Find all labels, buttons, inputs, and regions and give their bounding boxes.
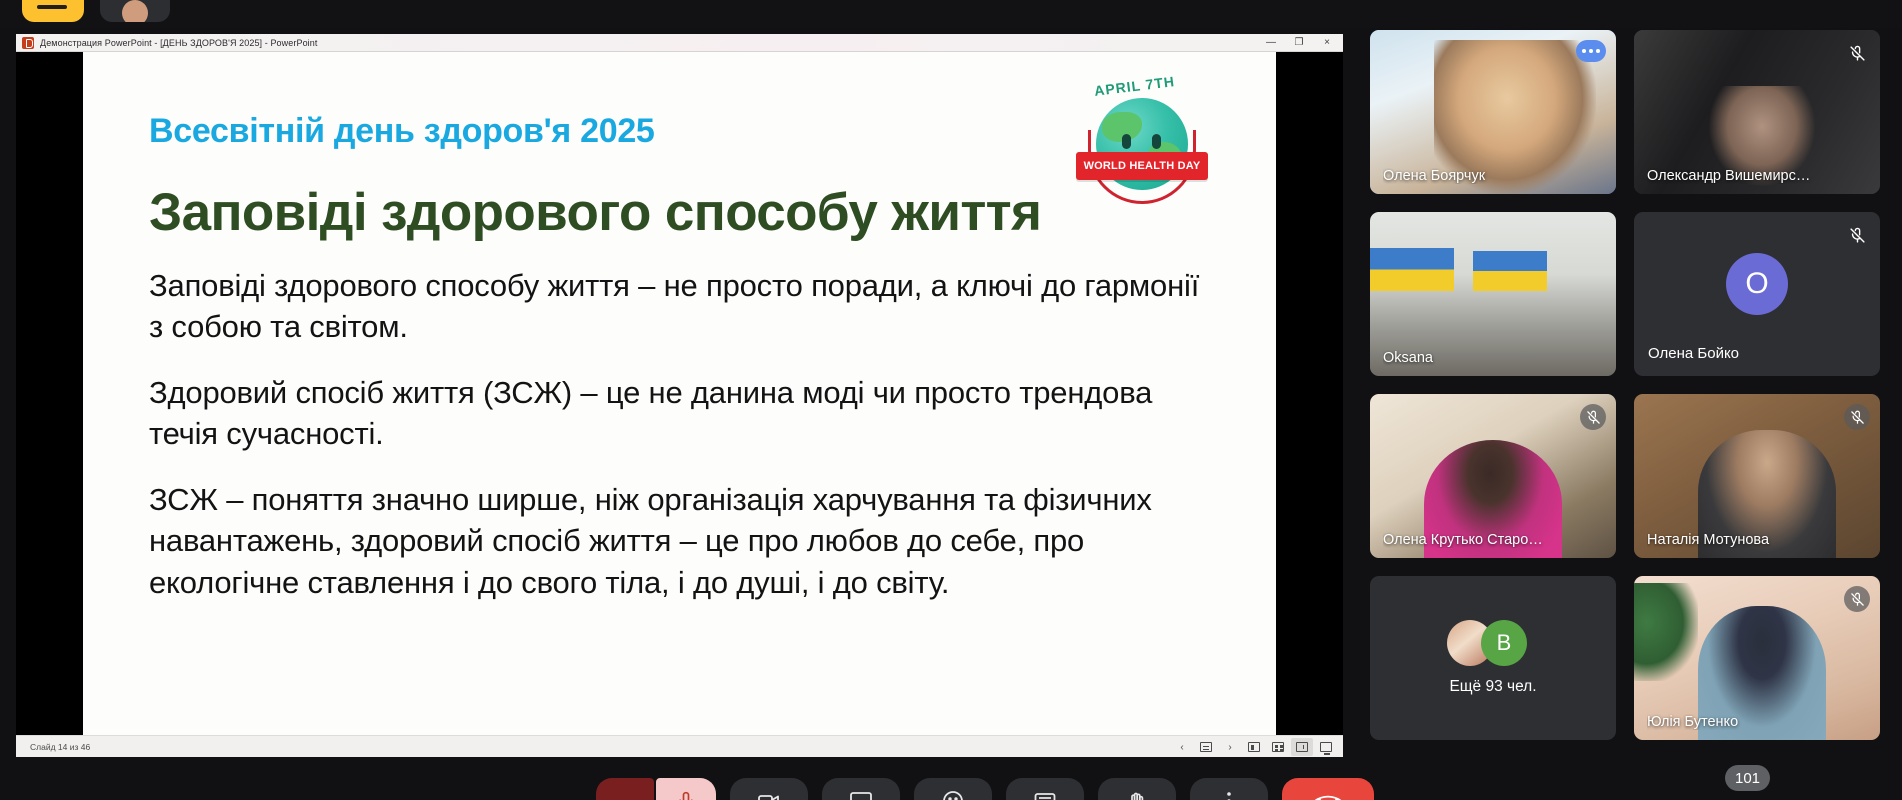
top-chrome-strip [0, 0, 1902, 28]
avatar: В [1481, 620, 1527, 666]
camera-button[interactable] [730, 778, 808, 800]
world-health-day-logo: APRIL 7TH WORLD HEALTH DAY [1064, 76, 1224, 211]
slide-counter: Слайд 14 из 46 [16, 742, 90, 752]
powerpoint-title: Демонстрация PowerPoint - [ДЕНЬ ЗДОРОВ'Я… [40, 38, 317, 48]
microphone-button[interactable] [596, 778, 716, 800]
whd-ribbon-text: WORLD HEALTH DAY [1076, 152, 1208, 180]
notes-icon [1200, 742, 1212, 752]
participant-tile[interactable]: Юлія Бутенко [1634, 576, 1880, 740]
powerpoint-icon [22, 37, 34, 49]
globe-eye-right-icon [1152, 134, 1161, 149]
participant-name: Наталія Мотунова [1647, 532, 1846, 548]
mic-muted-icon [1844, 404, 1870, 430]
slide-paragraph-3: ЗСЖ – поняття значно ширше, ніж організа… [149, 479, 1209, 604]
screen-share-icon [849, 789, 873, 800]
normal-view-icon [1248, 742, 1260, 752]
notes-button[interactable] [1195, 738, 1217, 756]
powerpoint-share-window[interactable]: Демонстрация PowerPoint - [ДЕНЬ ЗДОРОВ'Я… [16, 34, 1343, 757]
next-slide-button[interactable]: › [1219, 738, 1241, 756]
participant-name: Oksana [1383, 350, 1582, 366]
reading-view-icon [1296, 742, 1308, 752]
slide-heading: Заповіді здорового способу життя [149, 185, 1220, 241]
meeting-screen: Демонстрация PowerPoint - [ДЕНЬ ЗДОРОВ'Я… [0, 0, 1902, 800]
slide-surface: Всесвітній день здоров'я 2025 Заповіді з… [83, 52, 1276, 735]
camera-icon [757, 789, 781, 800]
participant-rail: Олена Боярчук Олександр Вишемирс… Oksana [1370, 30, 1890, 758]
restore-icon[interactable]: ❐ [1285, 34, 1313, 52]
mic-icon [676, 791, 696, 800]
app-badge-yellow[interactable] [22, 0, 84, 22]
more-options-button[interactable] [1190, 778, 1268, 800]
end-call-icon [1314, 787, 1342, 800]
slide-sorter-icon [1272, 742, 1284, 752]
chat-icon [1033, 789, 1057, 800]
screen-share-button[interactable] [822, 778, 900, 800]
participant-tile[interactable]: О Олена Бойко [1634, 212, 1880, 376]
more-participants-label: Ещё 93 чел. [1449, 678, 1536, 696]
participant-tile[interactable]: Олена Боярчук [1370, 30, 1616, 194]
mic-muted-icon [1844, 586, 1870, 612]
slide-show-icon [1320, 742, 1332, 752]
hand-icon [1125, 789, 1149, 800]
participant-name: Олександр Вишемирс… [1647, 168, 1846, 184]
april-date-text: APRIL 7TH [1093, 73, 1175, 99]
microphone-options[interactable] [656, 778, 716, 800]
chat-button[interactable] [1006, 778, 1084, 800]
mic-muted-icon [1844, 40, 1870, 66]
participant-row: В Ещё 93 чел. Юлія Бутенко [1370, 576, 1890, 740]
window-controls: — ❐ × [1257, 34, 1341, 52]
participant-name: Олена Боярчук [1383, 168, 1582, 184]
raise-hand-button[interactable] [1098, 778, 1176, 800]
close-icon[interactable]: × [1313, 34, 1341, 52]
powerpoint-canvas: Всесвітній день здоров'я 2025 Заповіді з… [16, 52, 1343, 735]
powerpoint-titlebar: Демонстрация PowerPoint - [ДЕНЬ ЗДОРОВ'Я… [16, 34, 1343, 52]
avatar: О [1726, 253, 1788, 315]
mic-muted-icon [1580, 404, 1606, 430]
participant-tile[interactable]: Олександр Вишемирс… [1634, 30, 1880, 194]
participant-row: Oksana О Олена Бойко [1370, 212, 1890, 376]
slide-paragraph-2: Здоровий спосіб життя (ЗСЖ) – це не дани… [149, 372, 1209, 455]
normal-view-button[interactable] [1243, 738, 1265, 756]
slide-show-button[interactable] [1315, 738, 1337, 756]
reading-view-button[interactable] [1291, 738, 1313, 756]
participant-name: Юлія Бутенко [1647, 714, 1846, 730]
avatar-stack: В [1447, 620, 1539, 666]
tile-more-options-icon[interactable] [1576, 40, 1606, 62]
participant-row: Олена Боярчук Олександр Вишемирс… [1370, 30, 1890, 194]
powerpoint-statusbar: Слайд 14 из 46 ‹ › [16, 735, 1343, 757]
participant-row: Олена Крутько Старо… Наталія Мотунова [1370, 394, 1890, 558]
globe-eye-left-icon [1122, 134, 1131, 149]
slide-paragraph-1: Заповіді здорового способу життя – не пр… [149, 265, 1209, 348]
minimize-icon[interactable]: — [1257, 34, 1285, 52]
participant-name: Олена Бойко [1648, 345, 1739, 362]
smiley-icon [941, 789, 965, 800]
leave-call-button[interactable] [1282, 778, 1374, 800]
reactions-button[interactable] [914, 778, 992, 800]
prev-slide-button[interactable]: ‹ [1171, 738, 1193, 756]
more-vertical-icon [1217, 789, 1241, 800]
meeting-toolbar [596, 778, 1374, 800]
mic-muted-icon [1844, 222, 1870, 248]
participant-tile[interactable]: Наталія Мотунова [1634, 394, 1880, 558]
self-view-pill[interactable] [100, 0, 170, 22]
participant-tile[interactable]: Oksana [1370, 212, 1616, 376]
microphone-toggle[interactable] [596, 778, 654, 800]
slide-kicker: Всесвітній день здоров'я 2025 [149, 112, 1220, 151]
slide-sorter-button[interactable] [1267, 738, 1289, 756]
more-participants-tile[interactable]: В Ещё 93 чел. [1370, 576, 1616, 740]
statusbar-controls: ‹ › [1171, 736, 1337, 757]
participant-name: Олена Крутько Старо… [1383, 532, 1582, 548]
participant-count-badge[interactable]: 101 [1725, 765, 1770, 791]
participant-tile[interactable]: Олена Крутько Старо… [1370, 394, 1616, 558]
